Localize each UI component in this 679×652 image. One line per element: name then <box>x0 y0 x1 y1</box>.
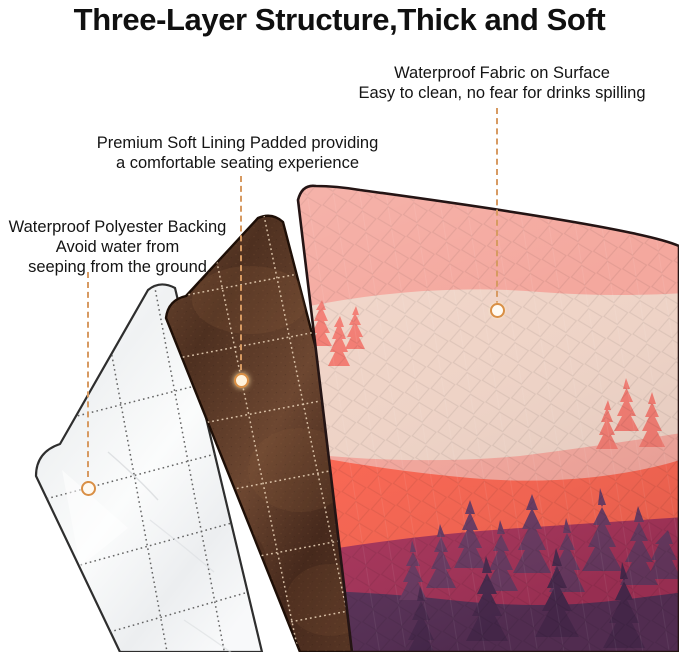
callout-backing-line3: seeping from the ground <box>0 257 235 277</box>
callout-lining-line2: a comfortable seating experience <box>75 153 400 173</box>
soft-lining-callout: Premium Soft Lining Padded providing a c… <box>75 133 400 173</box>
leader-line-lining <box>240 176 242 380</box>
callout-backing-line1: Waterproof Polyester Backing <box>0 217 235 237</box>
leader-line-surface <box>496 108 498 307</box>
waterproof-fabric-callout: Waterproof Fabric on Surface Easy to cle… <box>337 63 667 103</box>
marker-dot-surface <box>490 303 505 318</box>
leader-line-backing <box>87 272 89 487</box>
marker-dot-lining <box>234 373 249 388</box>
page-title: Three-Layer Structure,Thick and Soft <box>0 2 679 38</box>
product-infographic: Three-Layer Structure,Thick and Soft Wat… <box>0 0 679 652</box>
callout-surface-line2: Easy to clean, no fear for drinks spilli… <box>337 83 667 103</box>
polyester-backing-callout: Waterproof Polyester Backing Avoid water… <box>0 217 235 277</box>
callout-lining-line1: Premium Soft Lining Padded providing <box>75 133 400 153</box>
callout-surface-line1: Waterproof Fabric on Surface <box>337 63 667 83</box>
callout-backing-line2: Avoid water from <box>0 237 235 257</box>
marker-dot-backing <box>81 481 96 496</box>
